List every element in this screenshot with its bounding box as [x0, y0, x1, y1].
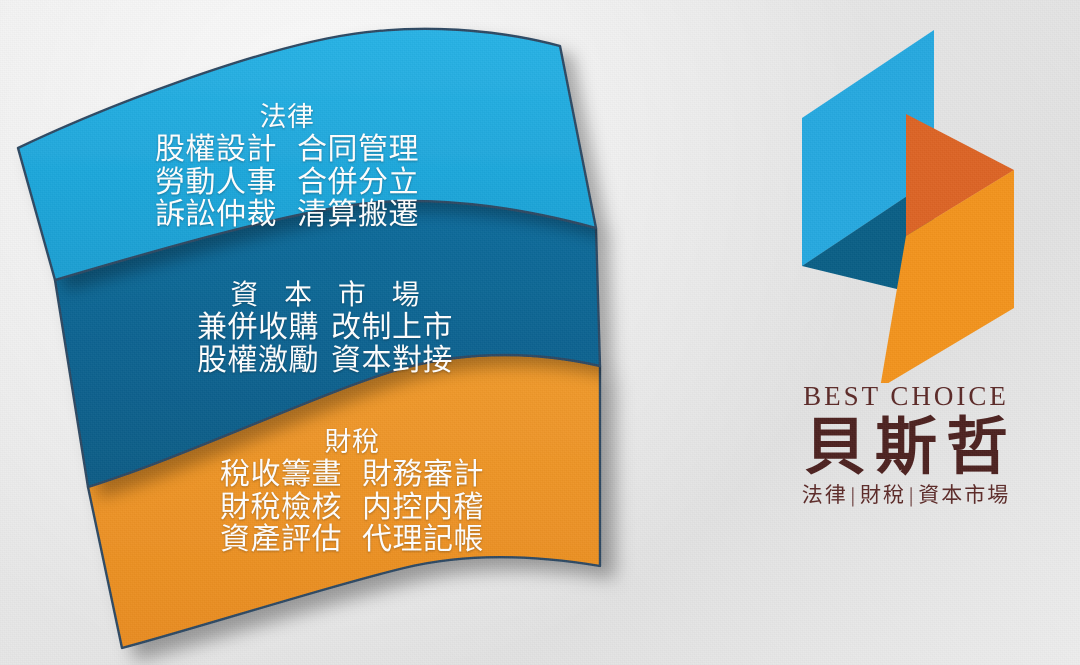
logo-english-name: BEST CHOICE [756, 383, 1056, 410]
tagline-item: 財稅 [860, 483, 906, 507]
services-ribbon-graphic: 法律 股權設計 合同管理 勞動人事 合併分立 訴訟仲裁 清算搬遷 資 本 市 場… [0, 0, 700, 665]
tagline-separator: | [906, 483, 918, 507]
ribbon-shapes [0, 0, 700, 665]
tagline-item: 法律 [802, 483, 848, 507]
company-logo: BEST CHOICE 貝斯哲 法律|財稅|資本市場 [756, 18, 1056, 558]
tagline-separator: | [848, 483, 860, 507]
logo-chinese-name: 貝斯哲 [756, 414, 1056, 479]
slide-canvas: 法律 股權設計 合同管理 勞動人事 合併分立 訴訟仲裁 清算搬遷 資 本 市 場… [0, 0, 1080, 665]
tagline-item: 資本市場 [918, 483, 1010, 507]
logo-wordmark: BEST CHOICE 貝斯哲 法律|財稅|資本市場 [756, 383, 1056, 506]
best-choice-logo-mark-icon [756, 18, 1056, 383]
logo-tagline: 法律|財稅|資本市場 [756, 485, 1056, 506]
